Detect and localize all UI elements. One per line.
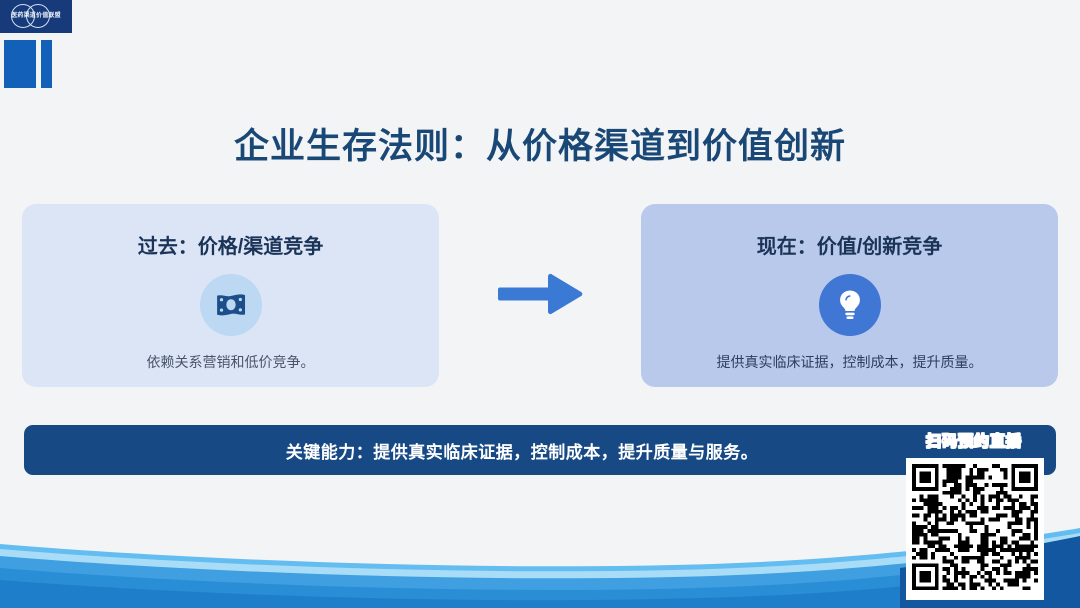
lightbulb-icon	[833, 288, 867, 322]
qr-code[interactable]	[906, 458, 1044, 600]
card-past-icon-circle	[200, 274, 262, 336]
card-now-heading: 现在：价值/创新竞争	[641, 230, 1058, 259]
comparison-card-past: 过去：价格/渠道竞争 依赖关系营销和低价竞争。	[22, 204, 439, 387]
brand-accent-bar-wide	[4, 40, 36, 88]
card-past-caption: 依赖关系营销和低价竞争。	[36, 352, 425, 372]
key-capability-text: 关键能力：提供真实临床证据，控制成本，提升质量与服务。	[286, 438, 759, 463]
qr-promo-block[interactable]: 扫码预约直播	[898, 430, 1050, 602]
right-arrow-icon	[498, 272, 584, 316]
card-now-icon-circle	[819, 274, 881, 336]
brand-block: 医药渠道价值联盟	[0, 0, 72, 92]
comparison-card-now: 现在：价值/创新竞争 提供真实临床证据，控制成本，提升质量。	[641, 204, 1058, 387]
transition-arrow	[498, 272, 584, 316]
page-title: 企业生存法则：从价格渠道到价值创新	[0, 118, 1080, 169]
qr-promo-label: 扫码预约直播	[898, 430, 1050, 451]
qr-code-canvas	[912, 464, 1038, 594]
logo-text: 医药渠道价值联盟	[11, 13, 61, 20]
card-now-caption: 提供真实临床证据，控制成本，提升质量。	[655, 352, 1044, 372]
brand-accent-bar-narrow	[41, 40, 52, 88]
company-logo: 医药渠道价值联盟	[0, 0, 72, 33]
banknote-icon	[214, 288, 248, 322]
card-past-heading: 过去：价格/渠道竞争	[22, 230, 439, 259]
